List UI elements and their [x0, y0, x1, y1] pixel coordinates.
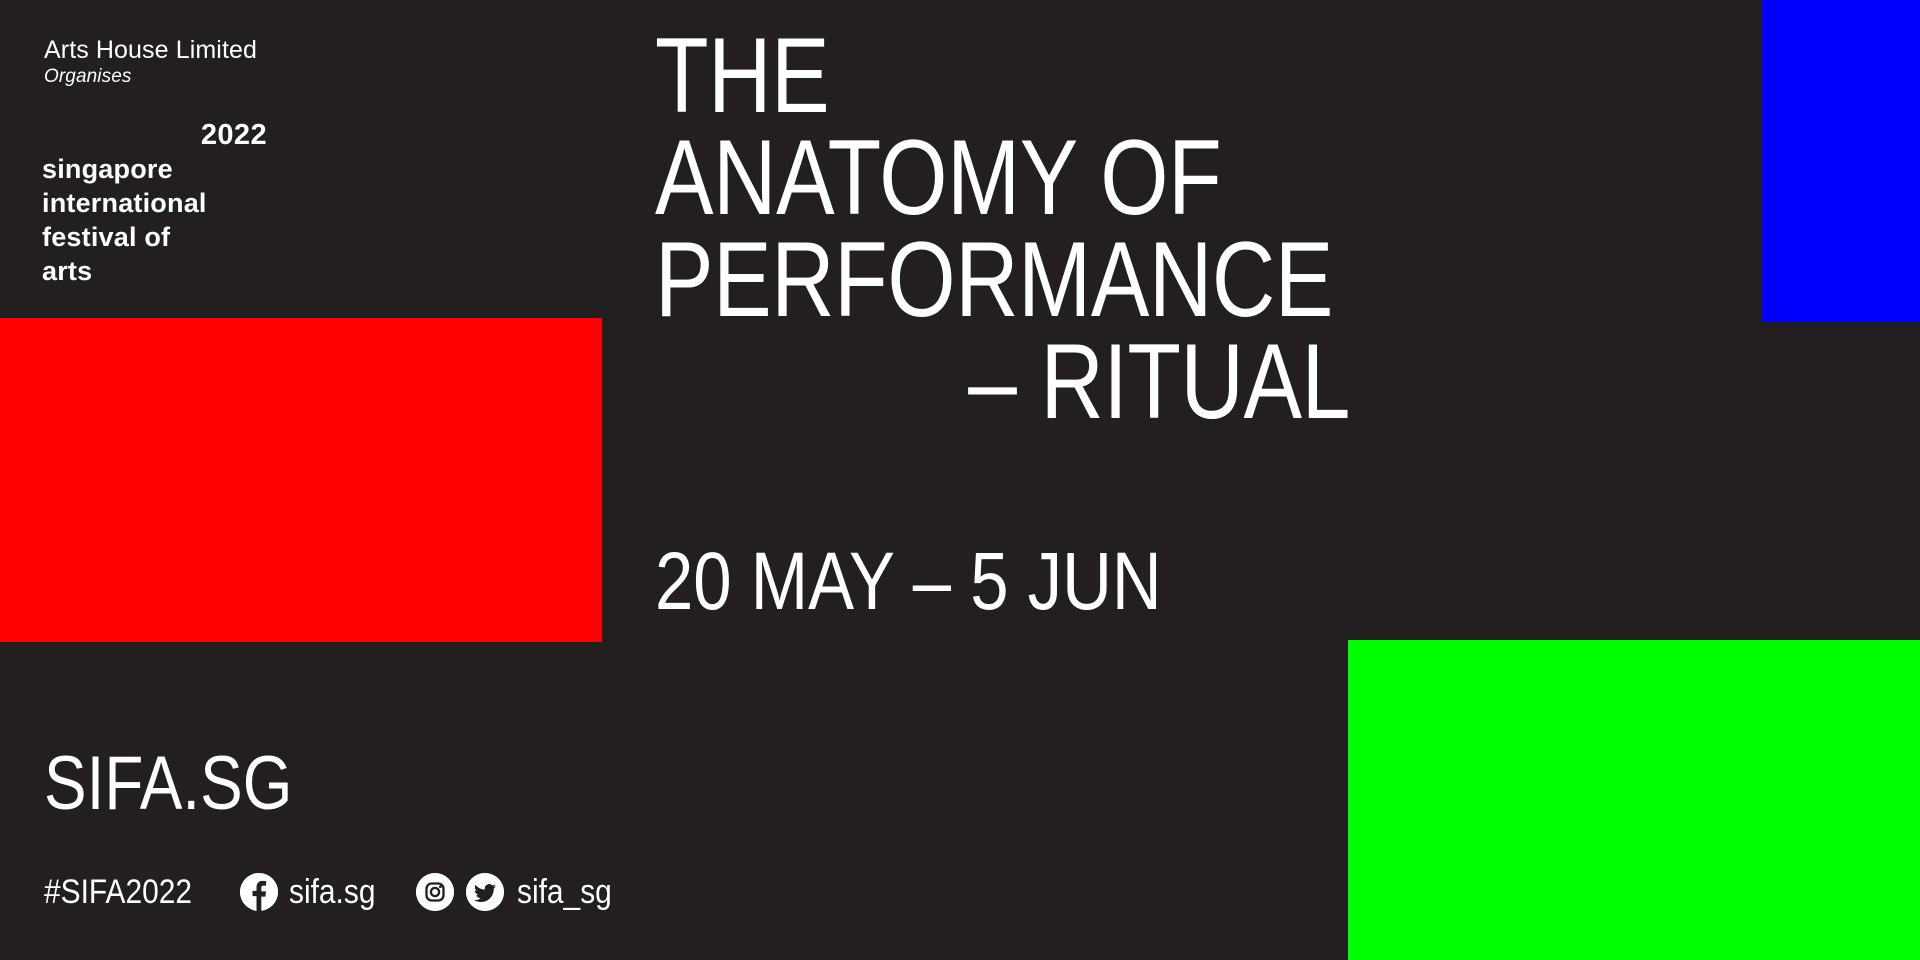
facebook-icon[interactable]	[240, 873, 278, 911]
organiser-role: Organises	[44, 65, 464, 88]
instagram-icon[interactable]	[416, 873, 454, 911]
festival-logo-line-3: festival of	[42, 220, 267, 254]
twitter-handle[interactable]: sifa_sg	[517, 872, 612, 912]
event-title: THE ANATOMY OF PERFORMANCE – RITUAL	[600, 24, 1350, 432]
festival-year: 2022	[42, 118, 267, 152]
green-decorative-block	[1348, 640, 1920, 960]
festival-logo-line-2: international	[42, 186, 267, 220]
event-dates: 20 MAY – 5 JUN	[655, 538, 1162, 626]
social-row: #SIFA2022 sifa.sg si	[44, 868, 624, 916]
organiser-credit: Arts House Limited Organises	[44, 36, 464, 88]
twitter-icon[interactable]	[466, 873, 504, 911]
website-url[interactable]: SIFA.SG	[44, 742, 292, 826]
festival-logo-line-4: arts	[42, 254, 267, 288]
festival-logo-line-1: singapore	[42, 152, 267, 186]
poster-canvas: Arts House Limited Organises 2022 singap…	[0, 0, 1920, 960]
hashtag: #SIFA2022	[44, 872, 192, 912]
title-line-3: PERFORMANCE	[655, 228, 1225, 330]
facebook-link[interactable]: sifa.sg	[240, 872, 391, 912]
facebook-handle[interactable]: sifa.sg	[289, 872, 375, 912]
title-line-4: – RITUAL	[735, 330, 1350, 432]
organiser-name: Arts House Limited	[44, 36, 464, 65]
title-line-2: ANATOMY OF	[655, 126, 1225, 228]
title-line-1: THE	[655, 24, 1225, 126]
blue-decorative-block	[1762, 0, 1920, 322]
festival-logo: 2022 singapore international festival of…	[42, 118, 267, 288]
red-decorative-block	[0, 318, 602, 642]
